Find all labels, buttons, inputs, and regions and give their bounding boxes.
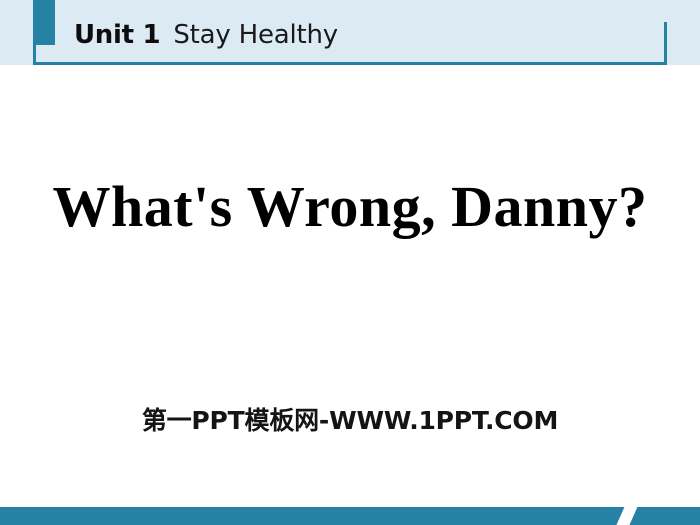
header-title-group: Unit 1 Stay Healthy	[74, 14, 338, 56]
page-title: What's Wrong, Danny?	[0, 172, 700, 242]
watermark-text: 第一PPT模板网-WWW.1PPT.COM	[0, 405, 700, 437]
presentation-slide: Unit 1 Stay Healthy What's Wrong, Danny?…	[0, 0, 700, 525]
footer-slash-decoration-icon	[614, 507, 639, 525]
unit-title: Stay Healthy	[173, 20, 338, 50]
header-accent-bar-icon	[33, 0, 55, 45]
header-outline-box-right-edge	[664, 22, 667, 46]
footer-bar	[0, 507, 700, 525]
unit-label: Unit 1	[74, 20, 160, 50]
